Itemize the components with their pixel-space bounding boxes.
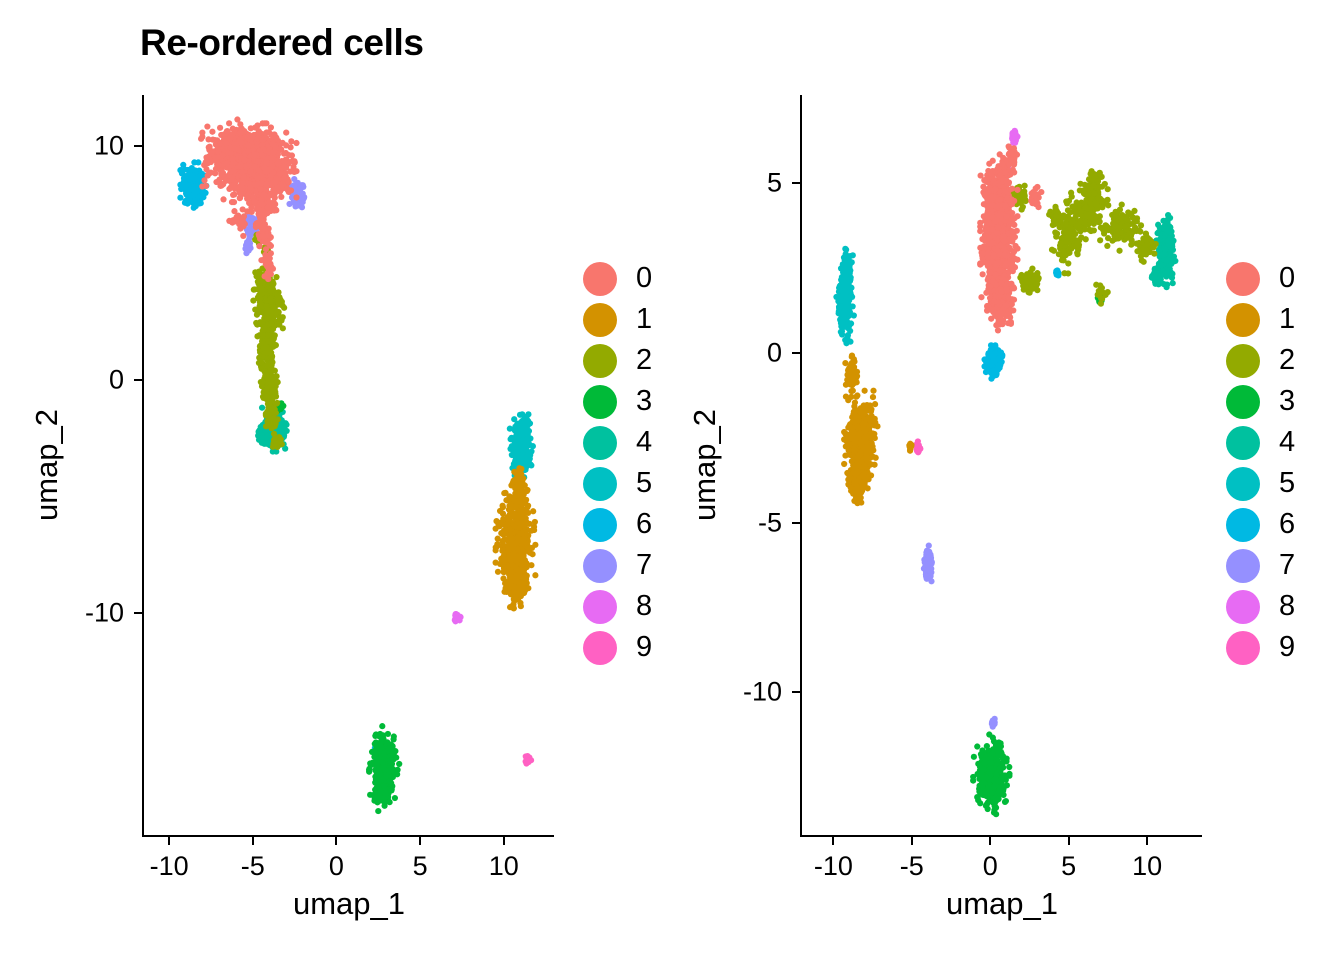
legend-key-dot-icon	[1226, 467, 1260, 501]
legend-key-dot-icon	[583, 344, 617, 378]
legend-item-label: 2	[1279, 346, 1295, 375]
x-axis-tick-label: 0	[983, 851, 998, 882]
legend-key-dot-icon	[1226, 385, 1260, 419]
y-axis-title: umap_2	[29, 409, 65, 521]
legend-item-label: 8	[636, 592, 652, 621]
legend-item-label: 1	[1279, 305, 1295, 334]
legend-item-5[interactable]: 5	[583, 463, 652, 504]
y-axis-tick	[792, 691, 800, 693]
legend-item-label: 9	[636, 633, 652, 662]
y-axis-tick-label: 10	[24, 131, 124, 162]
legend-item-7[interactable]: 7	[1226, 545, 1295, 586]
y-axis-tick	[792, 182, 800, 184]
legend-item-label: 8	[1279, 592, 1295, 621]
x-axis-title: umap_1	[946, 886, 1058, 922]
x-axis-tick-label: 5	[1061, 851, 1076, 882]
y-axis-tick-label: -10	[24, 598, 124, 629]
y-axis-tick	[792, 352, 800, 354]
x-axis-tick	[168, 837, 170, 845]
legend-item-label: 3	[1279, 387, 1295, 416]
legend-left[interactable]: 0123456789	[583, 258, 652, 668]
x-axis-tick-label: -5	[241, 851, 265, 882]
x-axis-tick	[503, 837, 505, 845]
legend-item-9[interactable]: 9	[1226, 627, 1295, 668]
x-axis-tick	[911, 837, 913, 845]
legend-item-1[interactable]: 1	[583, 299, 652, 340]
x-axis-tick-label: -10	[150, 851, 189, 882]
legend-key-dot-icon	[1226, 426, 1260, 460]
y-axis-tick-label: 0	[682, 337, 782, 368]
legend-item-label: 7	[636, 551, 652, 580]
x-axis-title: umap_1	[293, 886, 405, 922]
legend-key-dot-icon	[1226, 303, 1260, 337]
x-axis-tick	[419, 837, 421, 845]
legend-key-dot-icon	[583, 549, 617, 583]
legend-item-label: 3	[636, 387, 652, 416]
legend-item-3[interactable]: 3	[583, 381, 652, 422]
x-axis-tick-label: 10	[1132, 851, 1162, 882]
legend-item-8[interactable]: 8	[583, 586, 652, 627]
legend-item-4[interactable]: 4	[583, 422, 652, 463]
legend-key-dot-icon	[583, 385, 617, 419]
legend-item-0[interactable]: 0	[1226, 258, 1295, 299]
legend-item-label: 5	[636, 469, 652, 498]
x-axis-tick-label: 0	[329, 851, 344, 882]
legend-item-6[interactable]: 6	[1226, 504, 1295, 545]
x-axis-line	[142, 835, 554, 837]
x-axis-tick-label: -10	[814, 851, 853, 882]
y-axis-line	[142, 95, 144, 835]
legend-item-label: 7	[1279, 551, 1295, 580]
y-axis-tick	[134, 145, 142, 147]
legend-item-2[interactable]: 2	[583, 340, 652, 381]
legend-key-dot-icon	[1226, 508, 1260, 542]
legend-item-label: 9	[1279, 633, 1295, 662]
legend-item-label: 0	[636, 264, 652, 293]
legend-key-dot-icon	[583, 631, 617, 665]
legend-key-dot-icon	[583, 303, 617, 337]
legend-key-dot-icon	[583, 467, 617, 501]
y-axis-tick-label: 5	[682, 168, 782, 199]
legend-item-8[interactable]: 8	[1226, 586, 1295, 627]
legend-key-dot-icon	[583, 590, 617, 624]
y-axis-tick-label: 0	[24, 364, 124, 395]
legend-item-label: 4	[1279, 428, 1295, 457]
y-axis-tick	[134, 379, 142, 381]
legend-item-9[interactable]: 9	[583, 627, 652, 668]
legend-item-7[interactable]: 7	[583, 545, 652, 586]
x-axis-line	[800, 835, 1202, 837]
legend-item-label: 0	[1279, 264, 1295, 293]
legend-item-label: 5	[1279, 469, 1295, 498]
legend-key-dot-icon	[583, 262, 617, 296]
legend-right[interactable]: 0123456789	[1226, 258, 1295, 668]
scatter-plot-right[interactable]	[802, 95, 1202, 835]
figure-root: Re-ordered cells -10010-10-50510umap_1um…	[0, 0, 1344, 960]
legend-key-dot-icon	[583, 508, 617, 542]
legend-item-label: 6	[1279, 510, 1295, 539]
legend-item-5[interactable]: 5	[1226, 463, 1295, 504]
legend-key-dot-icon	[1226, 590, 1260, 624]
legend-item-label: 4	[636, 428, 652, 457]
x-axis-tick	[1068, 837, 1070, 845]
legend-item-1[interactable]: 1	[1226, 299, 1295, 340]
x-axis-tick-label: 5	[413, 851, 428, 882]
plot-panel-left: -10010-10-50510umap_1umap_2 0123456789	[0, 0, 690, 960]
legend-key-dot-icon	[583, 426, 617, 460]
x-axis-tick	[335, 837, 337, 845]
legend-key-dot-icon	[1226, 262, 1260, 296]
y-axis-title: umap_2	[687, 409, 723, 521]
x-axis-tick-label: 10	[489, 851, 519, 882]
legend-item-label: 2	[636, 346, 652, 375]
legend-item-3[interactable]: 3	[1226, 381, 1295, 422]
legend-key-dot-icon	[1226, 631, 1260, 665]
legend-key-dot-icon	[1226, 344, 1260, 378]
x-axis-tick	[252, 837, 254, 845]
x-axis-tick	[989, 837, 991, 845]
y-axis-tick	[134, 612, 142, 614]
y-axis-line	[800, 95, 802, 835]
y-axis-tick	[792, 522, 800, 524]
legend-key-dot-icon	[1226, 549, 1260, 583]
y-axis-tick-label: -10	[682, 677, 782, 708]
legend-item-6[interactable]: 6	[583, 504, 652, 545]
x-axis-tick	[832, 837, 834, 845]
legend-item-label: 1	[636, 305, 652, 334]
legend-item-label: 6	[636, 510, 652, 539]
x-axis-tick-label: -5	[900, 851, 924, 882]
plot-panel-right: -10-505-10-50510umap_1umap_2 0123456789	[660, 0, 1344, 960]
legend-item-4[interactable]: 4	[1226, 422, 1295, 463]
legend-item-2[interactable]: 2	[1226, 340, 1295, 381]
x-axis-tick	[1146, 837, 1148, 845]
legend-item-0[interactable]: 0	[583, 258, 652, 299]
scatter-plot-left[interactable]	[144, 95, 554, 835]
